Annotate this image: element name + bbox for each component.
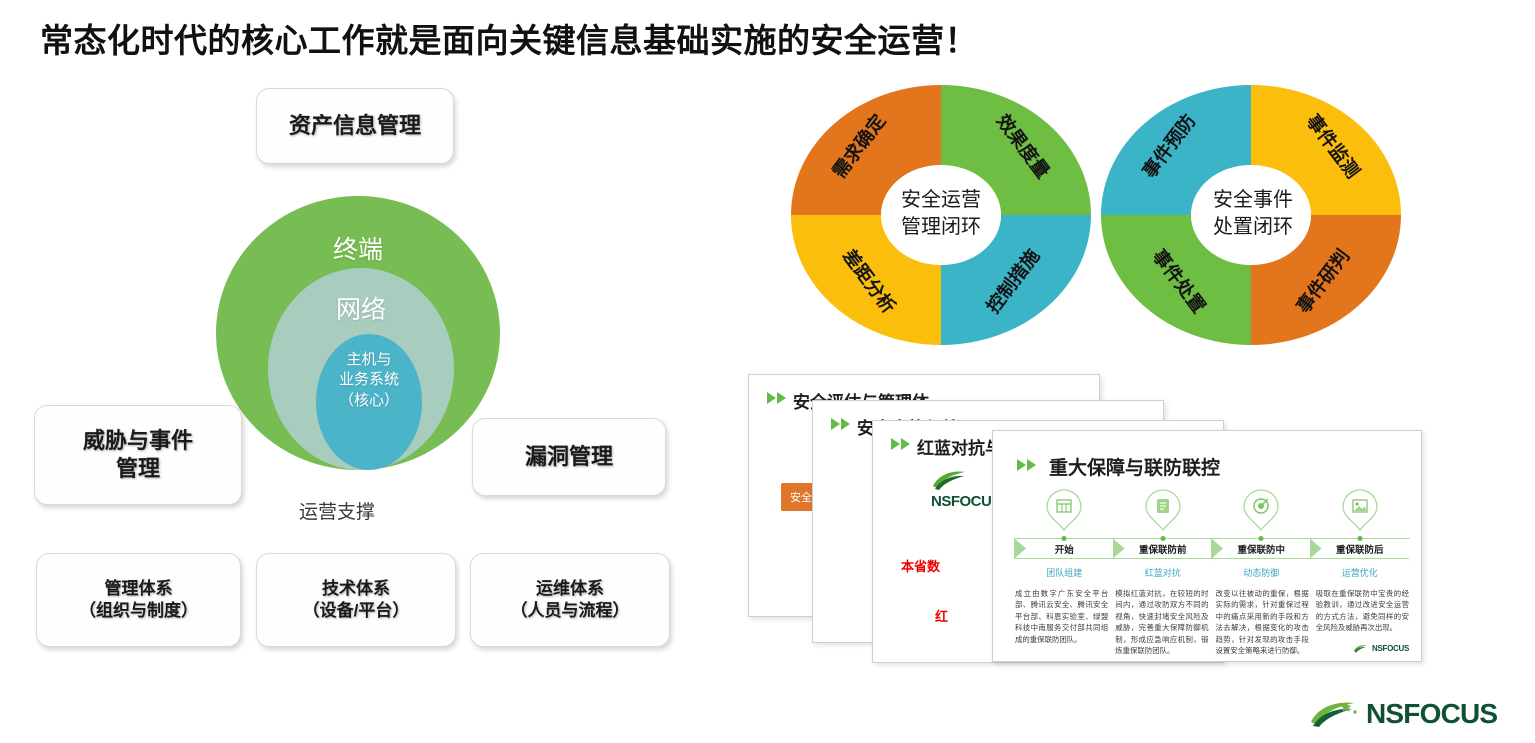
timeline-stage-2[interactable]: 重保联防中: [1212, 538, 1311, 559]
slide-card-4-title: 重大保障与联防联控: [1049, 453, 1220, 480]
timeline-stage-3[interactable]: 重保联防后: [1311, 538, 1410, 559]
circle-network-label: 网络: [268, 290, 454, 326]
foundation-box-operations[interactable]: 运维体系 （人员与流程）: [470, 553, 670, 647]
loop-left-center-label: 安全运营 管理闭环: [846, 187, 1036, 241]
clipboard-icon: [1145, 489, 1181, 531]
page-title: 常态化时代的核心工作就是面向关键信息基础实施的安全运营！: [40, 14, 978, 62]
closed-loop-diagram: 需求确定 效果度量 控制措施 差距分析 事件预防 事件监测 事件研判 事件处置 …: [786, 80, 1406, 350]
circle-endpoint-label: 终端: [216, 230, 500, 266]
slide-card-3-red-text-1: 本省数: [901, 556, 940, 575]
timeline-sub-label: 动态防御: [1212, 566, 1311, 579]
foundation-title: 运维体系: [511, 578, 630, 600]
timeline-dot: [1062, 536, 1067, 541]
vulnerability-mgmt-box[interactable]: 漏洞管理: [472, 418, 666, 496]
slide-card-3-red-text-2: 红: [935, 606, 948, 625]
nsfocus-wordmark: NSFOCUS: [931, 493, 991, 510]
timeline-sub-label: 运营优化: [1311, 566, 1410, 579]
timeline-icon-cell: [1212, 489, 1311, 536]
timeline-stage-label: 开始: [1055, 542, 1074, 556]
threat-event-mgmt-box[interactable]: 威胁与事件 管理: [34, 405, 242, 505]
asset-info-box[interactable]: 资产信息管理: [256, 88, 454, 164]
timeline-stage-label: 重保联防前: [1139, 542, 1187, 556]
foundation-title: 管理体系: [79, 578, 198, 600]
foundation-box-management[interactable]: 管理体系 （组织与制度）: [36, 553, 241, 647]
timeline-stage-label: 重保联防后: [1336, 542, 1384, 556]
chevron-marker-icon: [831, 418, 853, 431]
foundation-title: 技术体系: [303, 578, 410, 600]
timeline-sub-label: 红蓝对抗: [1114, 566, 1213, 579]
foundation-sub: （人员与流程）: [511, 600, 630, 622]
timeline-icon-cell: [1311, 489, 1410, 536]
timeline-body-text: 成立由数字广东安全平台部、腾讯云安全、腾讯安全平台部、科恩实验室、绿盟科技中南服…: [1015, 588, 1108, 657]
timeline-icon-cell: [1114, 489, 1213, 536]
chevron-marker-icon: [1017, 459, 1039, 472]
foundation-sub: （组织与制度）: [79, 600, 198, 622]
timeline-body-text: 改变以往被动的重保，根据实际的需求，针对重保过程中的痛点采用新的手段和方法去解决…: [1216, 588, 1309, 657]
ops-support-label: 运营支撑: [262, 497, 412, 524]
loop-right-center-label: 安全事件 处置闭环: [1158, 187, 1348, 241]
foundation-box-technology[interactable]: 技术体系 （设备/平台）: [256, 553, 456, 647]
nsfocus-logo: NSFOCUS: [931, 469, 991, 510]
slide-canvas: 常态化时代的核心工作就是面向关键信息基础实施的安全运营！ 资产信息管理 终端 网…: [0, 0, 1535, 743]
timeline-body-text: 模拟红蓝对抗，在较短的时间内，通过攻防双方不同的视角，快速封堵安全风险及威胁，完…: [1115, 588, 1208, 657]
timeline-sub-label: 团队组建: [1015, 566, 1114, 579]
nsfocus-logo: NSFOCUS: [1353, 644, 1409, 653]
timeline-icon-cell: [1015, 489, 1114, 536]
target-icon: [1243, 489, 1279, 531]
timeline-dot: [1259, 536, 1264, 541]
timeline: 开始 重保联防前 重保联防中 重保联防后 团队组建 红蓝对抗 动态防御: [1015, 489, 1409, 657]
timeline-stage-1[interactable]: 重保联防前: [1114, 538, 1213, 559]
timeline-dot: [1160, 536, 1165, 541]
image-icon: [1342, 489, 1378, 531]
timeline-stage-label: 重保联防中: [1237, 542, 1285, 556]
calendar-icon: [1046, 489, 1082, 531]
circle-host-core-label: 主机与 业务系统 （核心）: [316, 350, 422, 411]
timeline-dot: [1357, 536, 1362, 541]
nsfocus-logo: NSFOCUS: [1308, 698, 1497, 730]
slide-card-4[interactable]: 重大保障与联防联控: [992, 430, 1422, 662]
nsfocus-mark-icon: [1308, 699, 1360, 729]
foundation-sub: （设备/平台）: [303, 600, 410, 622]
circle-host-core: 主机与 业务系统 （核心）: [316, 334, 422, 470]
chevron-marker-icon: [891, 438, 913, 451]
timeline-stage-0[interactable]: 开始: [1015, 538, 1114, 559]
nsfocus-wordmark: NSFOCUS: [1372, 644, 1409, 653]
nsfocus-mark-icon: [931, 469, 971, 491]
nsfocus-wordmark: NSFOCUS: [1366, 698, 1497, 730]
nsfocus-mark-icon: [1353, 644, 1369, 653]
chevron-marker-icon: [767, 392, 789, 405]
